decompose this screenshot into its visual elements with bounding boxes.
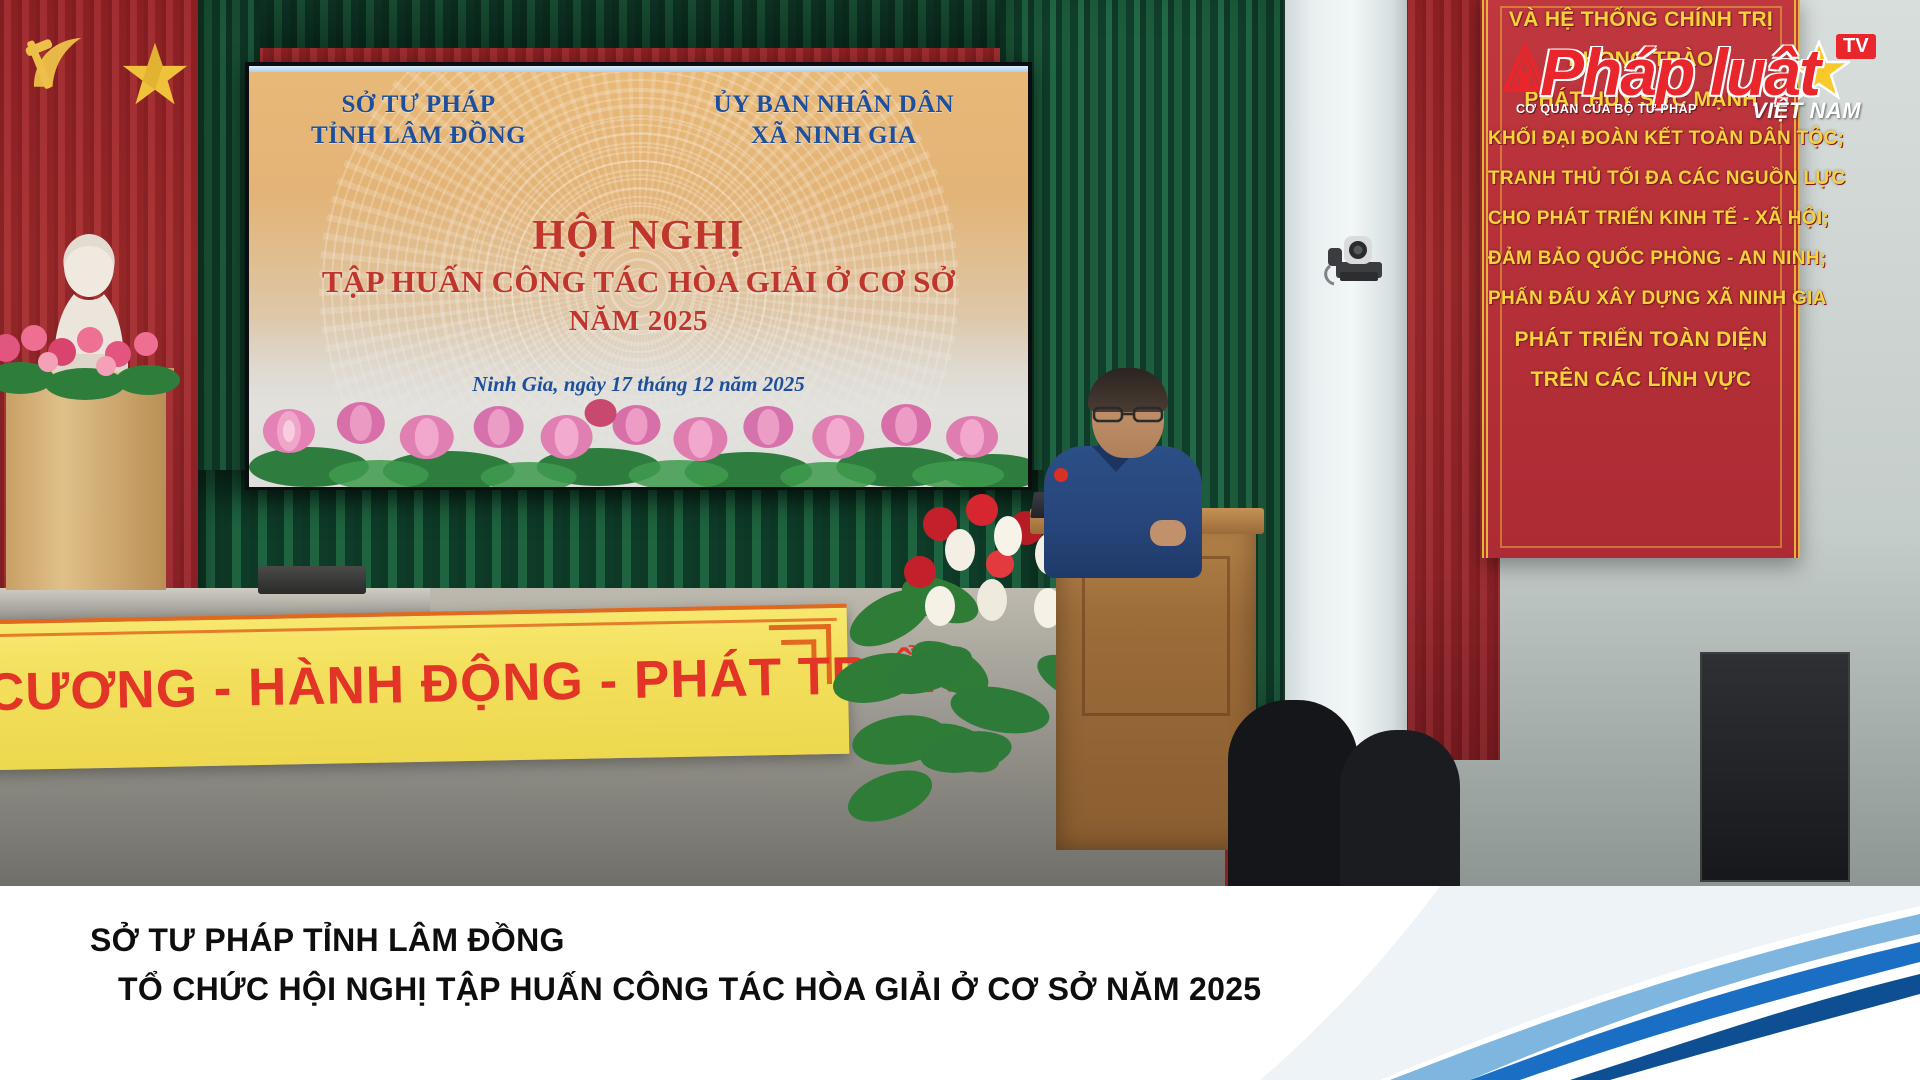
logo-country: VIỆT NAM: [1752, 98, 1861, 124]
banner-title: HỘI NGHỊ: [249, 212, 1028, 260]
caption-line-1: SỞ TƯ PHÁP TỈNH LÂM ĐỒNG: [90, 922, 1510, 959]
lotus-decoration: [249, 371, 1028, 487]
lectern-front-panel: [1082, 556, 1230, 716]
org-left: SỞ TƯ PHÁP TỈNH LÂM ĐỒNG: [311, 90, 526, 151]
ptz-camera-icon: [1318, 222, 1390, 290]
gold-star-icon: [120, 40, 190, 110]
stage-slogan-banner: CƯƠNG - HÀNH ĐỘNG - PHÁT TRIỂN: [0, 604, 849, 771]
caption-bar: SỞ TƯ PHÁP TỈNH LÂM ĐỒNG TỔ CHỨC HỘI NGH…: [0, 886, 1920, 1080]
news-photo: SỞ TƯ PHÁP TỈNH LÂM ĐỒNG ỦY BAN NHÂN DÂN…: [0, 0, 1920, 886]
banner-year: NĂM 2025: [249, 305, 1028, 338]
org-left-line2: TỈNH LÂM ĐỒNG: [311, 121, 526, 152]
audience-silhouette: [1340, 730, 1460, 886]
speaker-shirt: [1044, 446, 1202, 578]
banner-rule: [0, 618, 837, 637]
projected-banner: SỞ TƯ PHÁP TỈNH LÂM ĐỒNG ỦY BAN NHÂN DÂN…: [249, 72, 1028, 487]
wall-banner-line-8: PHẤN ĐẤU XÂY DỰNG XÃ NINH GIA: [1488, 288, 1794, 310]
logo-subtitle: CƠ QUAN CỦA BỘ TƯ PHÁP: [1516, 102, 1697, 116]
banner-org-row: SỞ TƯ PHÁP TỈNH LÂM ĐỒNG ỦY BAN NHÂN DÂN…: [249, 90, 1028, 151]
org-right-line1: ỦY BAN NHÂN DÂN: [714, 90, 955, 121]
logo-tv-badge: TV: [1836, 34, 1876, 59]
loudspeaker-cabinet: [1700, 652, 1850, 882]
org-left-line1: SỞ TƯ PHÁP: [311, 90, 526, 121]
wall-banner-line-7: ĐẢM BẢO QUỐC PHÒNG - AN NINH;: [1488, 248, 1794, 270]
channel-logo: Pháp luật TV CƠ QUAN CỦA BỘ TƯ PHÁP VIỆT…: [1500, 28, 1890, 136]
wall-banner-line-9: PHÁT TRIỂN TOÀN DIỆN: [1488, 328, 1794, 352]
banner-title-block: HỘI NGHỊ TẬP HUẤN CÔNG TÁC HÒA GIẢI Ở CƠ…: [249, 212, 1028, 338]
screenshot-frame: SỞ TƯ PHÁP TỈNH LÂM ĐỒNG ỦY BAN NHÂN DÂN…: [0, 0, 1920, 1080]
hammer-sickle-emblem: [18, 26, 104, 102]
flower-arrangement-left: [0, 300, 180, 400]
org-right-line2: XÃ NINH GIA: [714, 121, 955, 152]
wall-banner-line-5: TRANH THỦ TỐI ĐA CÁC NGUỒN LỰC: [1488, 168, 1794, 190]
wall-banner-line-6: CHO PHÁT TRIỂN KINH TẾ - XÃ HỘI;: [1488, 208, 1794, 230]
male-speaker: [1030, 372, 1200, 572]
stage-slogan-text: CƯƠNG - HÀNH ĐỘNG - PHÁT TRIỂN: [0, 647, 788, 723]
bust-pedestal: [6, 378, 166, 590]
banner-subtitle: TẬP HUẤN CÔNG TÁC HÒA GIẢI Ở CƠ SỞ: [249, 264, 1028, 300]
eyeglasses-icon: [1092, 406, 1164, 423]
microphone-box: [258, 566, 366, 594]
speaker-lapel-badge: [1054, 468, 1068, 482]
wall-banner-line-10: TRÊN CÁC LĨNH VỰC: [1488, 368, 1794, 392]
audience-silhouette: [1228, 700, 1358, 886]
org-right: ỦY BAN NHÂN DÂN XÃ NINH GIA: [714, 90, 955, 151]
speaker-hand: [1150, 520, 1186, 546]
caption-line-2: TỔ CHỨC HỘI NGHỊ TẬP HUẤN CÔNG TÁC HÒA G…: [90, 971, 1510, 1008]
caption-text: SỞ TƯ PHÁP TỈNH LÂM ĐỒNG TỔ CHỨC HỘI NGH…: [90, 922, 1510, 1008]
